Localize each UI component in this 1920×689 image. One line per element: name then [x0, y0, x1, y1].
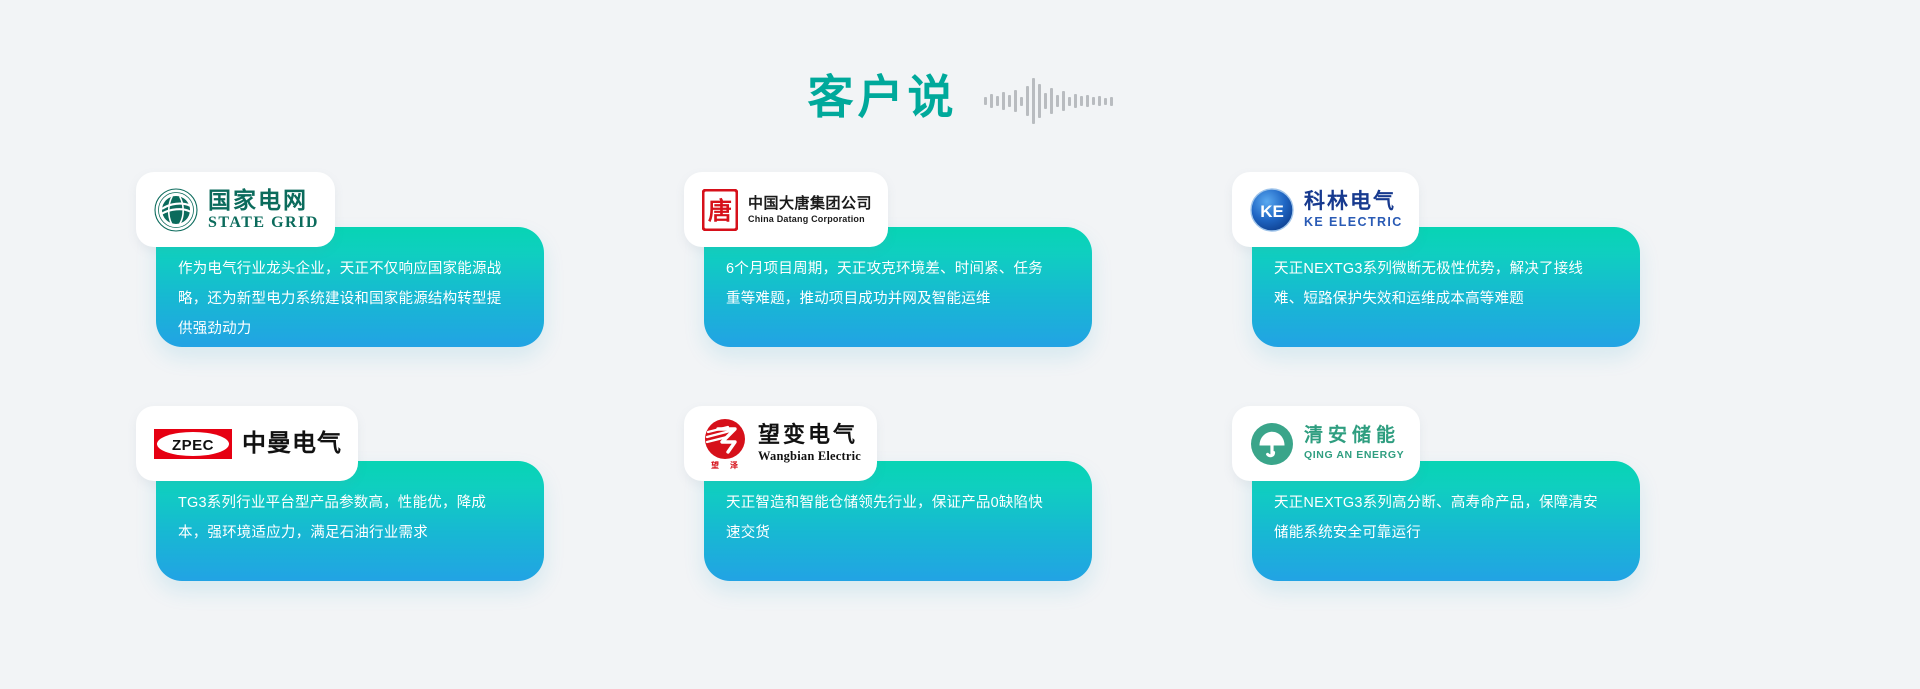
soundwave-bar	[1014, 90, 1017, 112]
testimonial-card[interactable]: 国家电网 STATE GRID 作为电气行业龙头企业，天正不仅响应国家能源战略，…	[136, 172, 524, 347]
testimonial-card[interactable]: ZPEC 中曼电气 TG3系列行业平台型产品参数高，性能优，降成本，强环境适应力…	[136, 406, 524, 581]
soundwave-bar	[1098, 96, 1101, 106]
logo-name-cn: 国家电网	[208, 189, 319, 212]
soundwave-bar	[990, 94, 993, 108]
testimonial-quote: 6个月项目周期，天正攻克环境差、时间紧、任务重等难题，推动项目成功并网及智能运维	[726, 254, 1056, 314]
soundwave-icon	[984, 78, 1113, 124]
logo-name-cn: 中国大唐集团公司	[748, 196, 872, 211]
logo-chip: 唐 中国大唐集团公司 China Datang Corporation	[684, 172, 888, 247]
soundwave-bar	[1044, 93, 1047, 109]
logo-name-en: STATE GRID	[208, 215, 319, 231]
soundwave-bar	[984, 97, 987, 105]
logo-chip: 清安储能 QING AN ENERGY	[1232, 406, 1420, 481]
soundwave-bar	[1008, 95, 1011, 107]
testimonial-quote: 天正NEXTG3系列微断无极性优势，解决了接线难、短路保护失效和运维成本高等难题	[1274, 254, 1604, 314]
soundwave-bar	[1080, 96, 1083, 106]
soundwave-bar	[1038, 84, 1041, 118]
logo-name-cn: 望变电气	[758, 424, 861, 446]
soundwave-bar	[1032, 78, 1035, 124]
svg-text:唐: 唐	[708, 197, 732, 225]
logo-chip: ZPEC 中曼电气	[136, 406, 358, 481]
svg-text:望: 望	[711, 460, 719, 470]
soundwave-bar	[1002, 92, 1005, 110]
soundwave-bar	[1074, 94, 1077, 108]
state-grid-logo-icon	[154, 188, 198, 232]
testimonial-grid: 国家电网 STATE GRID 作为电气行业龙头企业，天正不仅响应国家能源战略，…	[136, 172, 1796, 610]
soundwave-bar	[1056, 95, 1059, 107]
logo-name-cn: 清安储能	[1304, 426, 1404, 445]
logo-name-en: Wangbian Electric	[758, 450, 861, 463]
testimonial-card[interactable]: KE 科林电气 KE ELECTRIC 天正NEXTG3系列微断无极性优势，解决…	[1232, 172, 1620, 347]
section-header: 客户说	[0, 62, 1920, 132]
logo-chip: 望 泽 望变电气 Wangbian Electric	[684, 406, 877, 481]
testimonial-quote: 天正智造和智能仓储领先行业，保证产品0缺陷快速交货	[726, 488, 1056, 548]
qing-an-energy-logo-icon	[1250, 422, 1294, 466]
testimonial-quote: 天正NEXTG3系列高分断、高寿命产品，保障清安储能系统安全可靠运行	[1274, 488, 1604, 548]
soundwave-bar	[1050, 88, 1053, 114]
soundwave-bar	[1104, 98, 1107, 105]
testimonial-quote: 作为电气行业龙头企业，天正不仅响应国家能源战略，还为新型电力系统建设和国家能源结…	[178, 254, 508, 344]
logo-name-cn: 中曼电气	[242, 432, 342, 456]
testimonial-card[interactable]: 望 泽 望变电气 Wangbian Electric 天正智造和智能仓储领先行业…	[684, 406, 1072, 581]
svg-text:KE: KE	[1260, 202, 1284, 221]
ke-electric-logo-icon: KE	[1250, 188, 1294, 232]
logo-chip: KE 科林电气 KE ELECTRIC	[1232, 172, 1419, 247]
testimonial-card[interactable]: 清安储能 QING AN ENERGY 天正NEXTG3系列高分断、高寿命产品，…	[1232, 406, 1620, 581]
china-datang-logo-icon: 唐	[702, 189, 738, 231]
logo-chip: 国家电网 STATE GRID	[136, 172, 335, 247]
testimonial-card[interactable]: 唐 中国大唐集团公司 China Datang Corporation 6个月项…	[684, 172, 1072, 347]
page-title: 客户说	[808, 74, 958, 120]
logo-name-cn: 科林电气	[1304, 191, 1403, 212]
zpec-logo-icon: ZPEC	[154, 429, 232, 459]
logo-name-en: QING AN ENERGY	[1304, 450, 1404, 461]
testimonial-quote: TG3系列行业平台型产品参数高，性能优，降成本，强环境适应力，满足石油行业需求	[178, 488, 508, 548]
soundwave-bar	[1068, 97, 1071, 106]
svg-text:泽: 泽	[730, 460, 738, 470]
soundwave-bar	[1086, 95, 1089, 107]
wangbian-electric-logo-icon: 望 泽	[702, 418, 748, 470]
logo-name-en: KE ELECTRIC	[1304, 216, 1403, 229]
soundwave-bar	[1020, 97, 1023, 106]
soundwave-bar	[996, 96, 999, 106]
soundwave-bar	[1110, 97, 1113, 106]
svg-text:ZPEC: ZPEC	[172, 437, 214, 454]
logo-name-en: China Datang Corporation	[748, 215, 872, 224]
soundwave-bar	[1062, 91, 1065, 111]
soundwave-bar	[1026, 86, 1029, 116]
soundwave-bar	[1092, 97, 1095, 105]
